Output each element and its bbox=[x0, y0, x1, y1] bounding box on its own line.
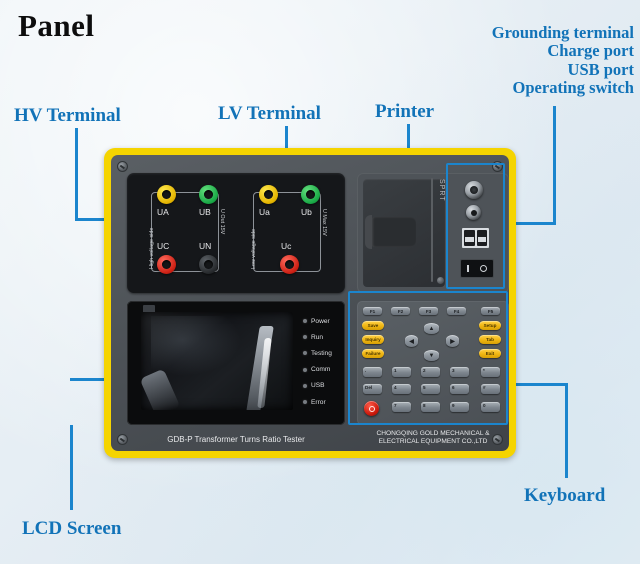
callout-operating-switch: Operating switch bbox=[492, 79, 634, 97]
lv-side-label: Low voltage side bbox=[251, 229, 257, 269]
callout-lcd-screen: LCD Screen bbox=[22, 518, 121, 539]
lcd-screen[interactable] bbox=[141, 312, 293, 410]
lcd-housing: Power Run Testing Comm USB Error bbox=[127, 301, 345, 425]
jack-ub-lower[interactable] bbox=[301, 185, 320, 204]
indicator-error: Error bbox=[303, 394, 332, 410]
jack-uc-label: UC bbox=[157, 241, 169, 251]
callout-ports-group: Grounding terminal Charge port USB port … bbox=[492, 24, 634, 98]
terminals-housing: High voltage side U Out 15V UA UB UC UN … bbox=[127, 173, 345, 293]
jack-ua-lower[interactable] bbox=[259, 185, 278, 204]
page-title: Panel bbox=[18, 8, 95, 44]
led-dot-icon bbox=[303, 368, 307, 372]
led-dot-icon bbox=[303, 319, 307, 323]
callout-hv-terminal: HV Terminal bbox=[14, 105, 121, 126]
indicator-comm: Comm bbox=[303, 362, 332, 378]
leader-keyboard-vert bbox=[565, 383, 568, 478]
lv-terminal-group: Low voltage side U Max 15V Ua Ub Uc bbox=[239, 183, 335, 283]
device-company-block: CHONGQING GOLD MECHANICAL & ELECTRICAL E… bbox=[357, 430, 509, 446]
indicator-testing: Testing bbox=[303, 345, 332, 361]
callout-keyboard: Keyboard bbox=[524, 485, 605, 506]
hv-terminal-group: High voltage side U Out 15V UA UB UC UN bbox=[137, 183, 233, 283]
callout-printer: Printer bbox=[375, 101, 434, 122]
jack-un[interactable] bbox=[199, 255, 218, 274]
device-brand-line: GDB-P Transformer Turns Ratio Tester bbox=[127, 435, 345, 444]
highlight-box-keypad bbox=[348, 291, 508, 425]
company-line-2: ELECTRICAL EQUIPMENT CO.,LTD bbox=[357, 438, 509, 446]
jack-un-label: UN bbox=[199, 241, 211, 251]
jack-uc-lower-label: Uc bbox=[281, 241, 291, 251]
callout-lv-terminal: LV Terminal bbox=[218, 103, 321, 124]
hv-rating-label: U Out 15V bbox=[219, 209, 225, 234]
led-dot-icon bbox=[303, 335, 307, 339]
callout-charge-port: Charge port bbox=[492, 42, 634, 60]
jack-ua[interactable] bbox=[157, 185, 176, 204]
lcd-reflection-soft bbox=[151, 316, 241, 376]
company-line-1: CHONGQING GOLD MECHANICAL & bbox=[357, 430, 509, 438]
leader-lcd-vert bbox=[70, 425, 73, 510]
indicator-power: Power bbox=[303, 313, 332, 329]
jack-ub-lower-label: Ub bbox=[301, 207, 312, 217]
jack-ub-label: UB bbox=[199, 207, 211, 217]
printer-paper-slot bbox=[372, 217, 416, 247]
printer-screw bbox=[437, 277, 444, 284]
indicator-list: Power Run Testing Comm USB Error bbox=[303, 313, 332, 410]
highlight-box-ports bbox=[446, 163, 505, 289]
hv-side-label: High voltage side bbox=[149, 228, 155, 269]
indicator-run: Run bbox=[303, 329, 332, 345]
callout-usb-port: USB port bbox=[492, 61, 634, 79]
callout-grounding-terminal: Grounding terminal bbox=[492, 24, 634, 42]
jack-uc[interactable] bbox=[157, 255, 176, 274]
screw-top-left bbox=[117, 161, 128, 172]
printer-brand-mark: SPRT bbox=[438, 179, 445, 202]
led-dot-icon bbox=[303, 384, 307, 388]
led-dot-icon bbox=[303, 400, 307, 404]
printer-latch-edge bbox=[431, 178, 433, 282]
jack-ua-lower-label: Ua bbox=[259, 207, 270, 217]
leader-hv-vert bbox=[75, 128, 78, 220]
leader-ports-vert bbox=[553, 106, 556, 224]
jack-uc-lower[interactable] bbox=[280, 255, 299, 274]
lv-rating-label: U Max 15V bbox=[321, 209, 327, 236]
led-dot-icon bbox=[303, 351, 307, 355]
indicator-usb: USB bbox=[303, 378, 332, 394]
printer-hinge bbox=[365, 215, 372, 249]
jack-ua-label: UA bbox=[157, 207, 169, 217]
jack-ub[interactable] bbox=[199, 185, 218, 204]
